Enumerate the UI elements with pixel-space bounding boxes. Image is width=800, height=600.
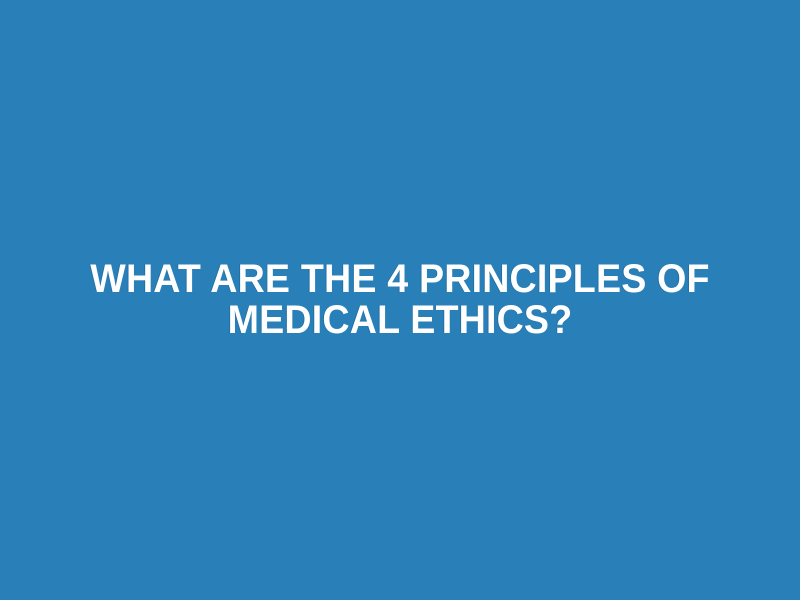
featured-image-card: What are the 4 Principles of Medical Eth… [0,0,800,600]
headline-block: What are the 4 Principles of Medical Eth… [0,259,800,341]
page-title: What are the 4 Principles of Medical Eth… [77,259,724,341]
